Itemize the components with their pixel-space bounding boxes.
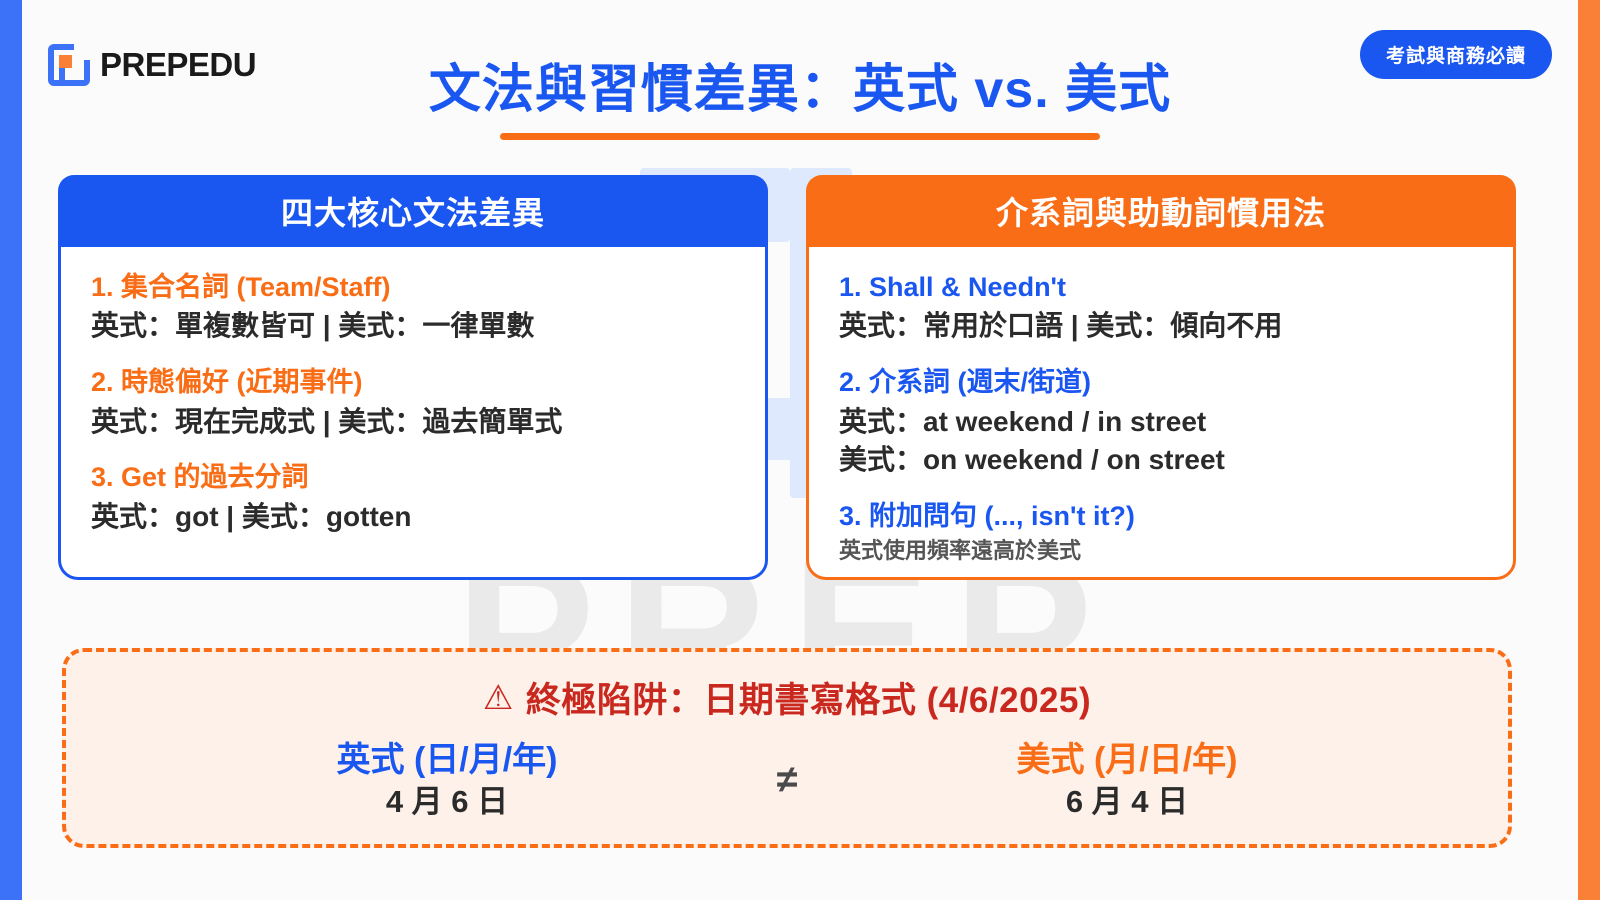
- trap-title: ⚠ 終極陷阱：日期書寫格式 (4/6/2025): [66, 672, 1508, 723]
- entry-line: 英式：常用於口語 | 美式：傾向不用: [839, 307, 1483, 346]
- list-item: 3. 附加問句 (..., isn't it?) 英式使用頻率遠高於美式: [839, 498, 1483, 566]
- trap-comparison-row: 英式 (日/月/年) 4 月 6 日 ≠ 美式 (月/日/年) 6 月 4 日: [66, 739, 1508, 822]
- trap-american-value: 6 月 4 日: [847, 782, 1407, 822]
- entry-title: 3. 附加問句 (..., isn't it?): [839, 498, 1483, 534]
- list-item: 3. Get 的過去分詞 英式：got | 美式：gotten: [91, 459, 735, 536]
- title-underline: [500, 133, 1100, 140]
- card-grammar-differences: 四大核心文法差異 1. 集合名詞 (Team/Staff) 英式：單複數皆可 |…: [58, 175, 768, 580]
- right-edge-stripe: [1578, 0, 1600, 900]
- card-body: 1. 集合名詞 (Team/Staff) 英式：單複數皆可 | 美式：一律單數 …: [61, 247, 765, 546]
- infographic-canvas: PREP PREPEDU 考試與商務必讀 文法與習慣差異：英式 vs. 美式 四…: [0, 0, 1600, 900]
- list-item: 2. 介系詞 (週末/街道) 英式：at weekend / in street…: [839, 364, 1483, 480]
- entry-line: 英式：現在完成式 | 美式：過去簡單式: [91, 403, 735, 442]
- entry-line: 美式：on weekend / on street: [839, 441, 1483, 480]
- trap-british-column: 英式 (日/月/年) 4 月 6 日: [167, 739, 727, 822]
- entry-title: 3. Get 的過去分詞: [91, 459, 735, 495]
- entry-line: 英式：單複數皆可 | 美式：一律單數: [91, 307, 735, 346]
- card-body: 1. Shall & Needn't 英式：常用於口語 | 美式：傾向不用 2.…: [809, 247, 1513, 576]
- not-equal-icon: ≠: [727, 759, 847, 802]
- entry-title: 1. 集合名詞 (Team/Staff): [91, 269, 735, 305]
- entry-title: 2. 介系詞 (週末/街道): [839, 364, 1483, 400]
- entry-title: 2. 時態偏好 (近期事件): [91, 364, 735, 400]
- warning-icon: ⚠: [483, 681, 514, 715]
- trap-british-value: 4 月 6 日: [167, 782, 727, 822]
- entry-line: 英式：got | 美式：gotten: [91, 498, 735, 537]
- list-item: 1. Shall & Needn't 英式：常用於口語 | 美式：傾向不用: [839, 269, 1483, 346]
- card-heading: 四大核心文法差異: [58, 175, 768, 247]
- entry-note: 英式使用頻率遠高於美式: [839, 536, 1483, 566]
- trap-british-label: 英式 (日/月/年): [167, 739, 727, 782]
- card-preposition-usage: 介系詞與助動詞慣用法 1. Shall & Needn't 英式：常用於口語 |…: [806, 175, 1516, 580]
- prepedu-logo-icon: [48, 44, 90, 86]
- list-item: 1. 集合名詞 (Team/Staff) 英式：單複數皆可 | 美式：一律單數: [91, 269, 735, 346]
- trap-american-column: 美式 (月/日/年) 6 月 4 日: [847, 739, 1407, 822]
- entry-line: 英式：at weekend / in street: [839, 403, 1483, 442]
- cards-row: 四大核心文法差異 1. 集合名詞 (Team/Staff) 英式：單複數皆可 |…: [58, 175, 1516, 580]
- trap-title-text: 終極陷阱：日期書寫格式 (4/6/2025): [526, 672, 1091, 723]
- status-badge: 考試與商務必讀: [1360, 30, 1552, 79]
- list-item: 2. 時態偏好 (近期事件) 英式：現在完成式 | 美式：過去簡單式: [91, 364, 735, 441]
- card-heading: 介系詞與助動詞慣用法: [806, 175, 1516, 247]
- date-format-trap-panel: ⚠ 終極陷阱：日期書寫格式 (4/6/2025) 英式 (日/月/年) 4 月 …: [62, 648, 1512, 848]
- brand-logo: PREPEDU: [48, 44, 256, 86]
- left-edge-stripe: [0, 0, 22, 900]
- trap-american-label: 美式 (月/日/年): [847, 739, 1407, 782]
- brand-logo-text: PREPEDU: [100, 46, 256, 84]
- entry-title: 1. Shall & Needn't: [839, 269, 1483, 305]
